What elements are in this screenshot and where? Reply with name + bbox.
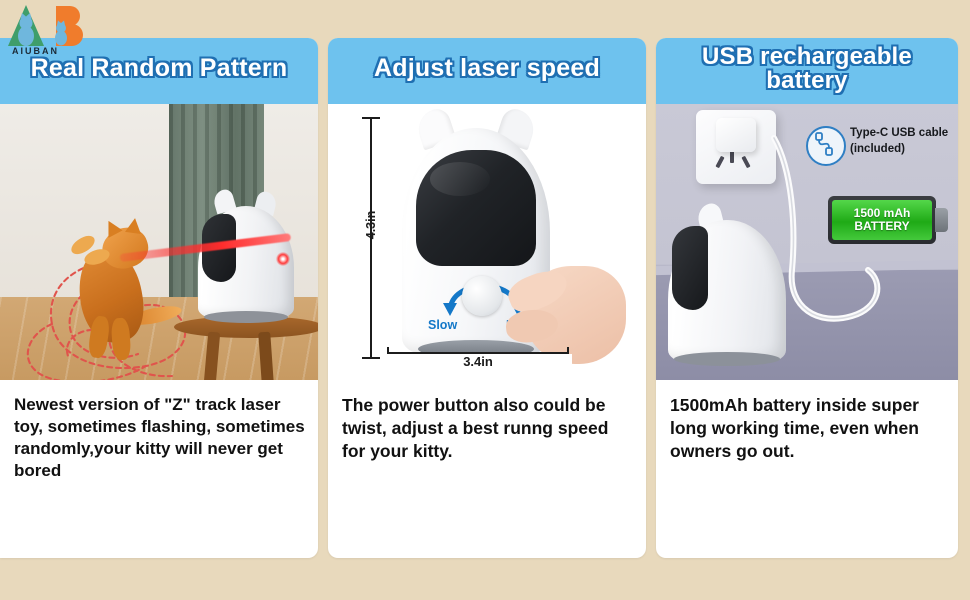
- battery-terminal: [935, 208, 948, 232]
- panel-1-photo: [0, 104, 318, 380]
- panel-3-header: USB rechargeable battery: [656, 38, 958, 104]
- panel-3-photo: Type-C USB cable (included) 1500 mAh BAT…: [656, 104, 958, 380]
- device-base: [674, 352, 780, 366]
- height-dimension-label: 4.3in: [364, 197, 378, 253]
- table-leg: [258, 332, 274, 380]
- device-base: [204, 311, 288, 323]
- panel-3-caption: 1500mAh battery inside super long workin…: [656, 380, 958, 462]
- battery-fill: 1500 mAh BATTERY: [832, 200, 932, 240]
- width-dimension: 3.4in: [384, 346, 572, 374]
- panel-2-caption: The power button also could be twist, ad…: [328, 380, 646, 462]
- outlet-slot: [741, 156, 750, 168]
- panel-1-caption: Newest version of "Z" track laser toy, s…: [0, 380, 318, 482]
- usb-power-adapter: [716, 118, 756, 152]
- cat-ear-icon: [125, 217, 143, 234]
- dial-slow-label: Slow: [428, 318, 457, 332]
- logo-mark-icon: [4, 2, 90, 50]
- usb-badge-line2: (included): [850, 143, 905, 155]
- width-dimension-label: 3.4in: [384, 354, 572, 369]
- battery-graphic: 1500 mAh BATTERY: [828, 196, 950, 244]
- device-lens: [672, 226, 708, 310]
- infographic-stage: AIUBAN Real Random Pattern: [0, 0, 970, 600]
- side-table: [174, 316, 318, 380]
- panel-adjust-speed: Adjust laser speed 4.3in: [328, 38, 646, 558]
- cat: [62, 222, 172, 352]
- usb-cable-badge: Type-C USB cable (included): [806, 126, 956, 168]
- battery-body: 1500 mAh BATTERY: [828, 196, 936, 244]
- panel-2-title: Adjust laser speed: [374, 56, 600, 82]
- panel-2-photo: 4.3in Slow F: [328, 104, 646, 380]
- battery-word-label: BATTERY: [854, 220, 909, 233]
- height-dimension: 4.3in: [356, 114, 386, 362]
- power-knob[interactable]: [462, 276, 502, 316]
- panel-2-header: Adjust laser speed: [328, 38, 646, 104]
- panel-usb-battery: USB rechargeable battery: [656, 38, 958, 558]
- outlet-slot: [715, 156, 724, 168]
- panel-3-title-line2: battery: [766, 67, 847, 94]
- panel-random-pattern: Real Random Pattern: [0, 38, 318, 558]
- usb-cable-icon: [806, 126, 846, 166]
- usb-badge-line1: Type-C USB cable: [850, 127, 948, 139]
- brand-logo: AIUBAN: [4, 2, 90, 64]
- brand-name: AIUBAN: [12, 46, 59, 56]
- table-leg: [204, 332, 220, 380]
- laser-toy-device-charging: [668, 204, 786, 362]
- panel-3-title-line1: USB rechargeable: [702, 43, 912, 70]
- laser-spark-icon: [276, 252, 290, 266]
- laser-toy-device-front: Slow Fast: [402, 110, 550, 356]
- usb-cable-glyph: [808, 128, 840, 160]
